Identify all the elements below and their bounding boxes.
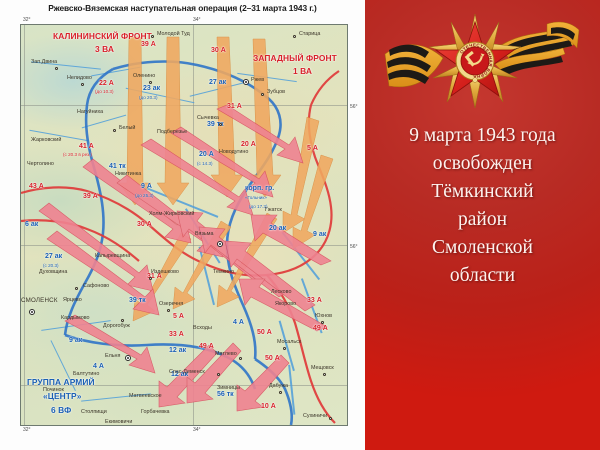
order-of-patriotic-war-emblem: ОТЕЧЕСТВЕННАЯ ВОЙНА (379, 4, 584, 116)
city-marker (279, 391, 282, 394)
city-label: Дорогобуж (103, 323, 130, 329)
unit-33a-east: 33 А (307, 297, 322, 304)
city-marker (321, 321, 324, 324)
city-label: Столпищи (81, 409, 107, 415)
unit-9ak-east: 9 ак (313, 231, 326, 238)
city-label: Дабужа (269, 383, 288, 389)
unit-50a: 50 А (257, 329, 272, 336)
unit-41a: 41 А (79, 143, 94, 150)
front-label-western: ЗАПАДНЫЙ ФРОНТ (253, 53, 337, 63)
unit-27ak-south: 27 ак (45, 253, 62, 260)
city-label: Издешково (151, 269, 179, 275)
city-label: Сычевка (197, 115, 219, 121)
city-marker (55, 67, 58, 70)
unit-9ak-smolensk: 9 ак (69, 337, 82, 344)
slide-root: Ржевско-Вяземская наступательная операци… (0, 0, 600, 450)
unit-5a: 5 А (173, 313, 184, 320)
front-air-fleet-6vf: 6 ВФ (51, 405, 71, 415)
unit-56tk: 56 тк (217, 391, 234, 398)
unit-9a-note: (до 25.3) (135, 193, 154, 198)
city-label: Оленино (133, 73, 155, 79)
city-label: Темкино (213, 269, 234, 275)
city-label: Духовщина (39, 269, 67, 275)
city-marker-smolensk (29, 309, 35, 315)
map-image: КАЛИНИНСКИЙ ФРОНТ 3 ВА ЗАПАДНЫЙ ФРОНТ 1 … (20, 24, 348, 426)
unit-20ak: 20 ак (269, 225, 286, 232)
unit-41tk: 41 тк (109, 163, 126, 170)
unit-22a-note: (до 10.3) (95, 89, 114, 94)
unit-39a-center: 39 А (83, 193, 98, 200)
city-label: Мятлево (215, 351, 237, 357)
city-label: Мосальск (277, 339, 301, 345)
unit-30a-center: 30 А (137, 221, 152, 228)
city-marker (293, 35, 296, 38)
unit-23ak: 23 ак (143, 85, 160, 92)
coord-bottom-right: 34° (193, 427, 201, 433)
coord-top-right: 34° (193, 17, 201, 23)
city-marker (149, 81, 152, 84)
city-label: Чертолино (27, 161, 54, 167)
unit-20a: 20 А (241, 141, 256, 148)
map-title: Ржевско-Вяземская наступательная операци… (0, 3, 365, 19)
unit-10a: 10 А (261, 403, 276, 410)
city-label: Нагуйниха (77, 109, 103, 115)
city-label: Балтутино (73, 371, 99, 377)
city-label: Нелидово (67, 75, 92, 81)
city-label: Всходы (193, 325, 212, 331)
banner-line-4: район (371, 206, 594, 234)
graticule-line (347, 25, 348, 425)
unit-4a: 4 А (93, 363, 104, 370)
unit-22a: 22 А (99, 80, 114, 87)
city-label: Спас-Деменск (169, 369, 205, 375)
map-panel: Ржевско-Вяземская наступательная операци… (0, 0, 365, 450)
city-label: Мещовск (311, 365, 334, 371)
city-marker-rzhev (243, 79, 249, 85)
unit-6ak: 6 ак (25, 221, 38, 228)
city-label: Юхнов (315, 313, 332, 319)
unit-9a: 9 А (141, 183, 152, 190)
unit-39tk-south: 39 тк (129, 297, 146, 304)
unit-korpsgruppe-name: «Гольник» (245, 195, 267, 200)
banner-line-1: 9 марта 1943 года (371, 122, 594, 150)
city-marker (329, 417, 332, 420)
unit-5a-east: 5 А (307, 145, 318, 152)
unit-50a-south: 50 А (265, 355, 280, 362)
city-label: Молодой Туд (157, 31, 190, 37)
city-marker (121, 319, 124, 322)
unit-41a-note: (с 20.3 в рез.) (63, 152, 92, 157)
city-marker (81, 83, 84, 86)
city-marker (217, 373, 220, 376)
city-label: Капыревщина (95, 253, 130, 259)
city-label: Подберезье (157, 129, 187, 135)
front-air-army-1va: 1 ВА (293, 66, 312, 76)
city-label: Горбачевка (141, 409, 170, 415)
city-label: Вязьма (195, 231, 213, 237)
banner-text-block: 9 марта 1943 года освобожден Тёмкинский … (371, 122, 594, 290)
city-marker (149, 277, 152, 280)
unit-33a: 33 А (169, 331, 184, 338)
unit-27ak-note: (с 20.3) (43, 263, 59, 268)
city-label: Починок (43, 387, 64, 393)
city-label: Никитинка (115, 171, 141, 177)
front-air-army-3va: 3 ВА (95, 44, 114, 54)
st-george-ribbon-left (385, 45, 443, 87)
banner-panel: ОТЕЧЕСТВЕННАЯ ВОЙНА 9 марта 1943 года ос… (365, 0, 600, 450)
coord-top-left: 32° (23, 17, 31, 23)
city-marker (283, 347, 286, 350)
city-label: Зап.Двина (31, 59, 57, 65)
banner-line-6: области (371, 262, 594, 290)
front-label-army-group-centre: ГРУППА АРМИЙ (27, 377, 95, 387)
city-marker-vyazma (217, 241, 223, 247)
unit-4a-east: 4 А (233, 319, 244, 326)
unit-49a: 49 А (199, 343, 214, 350)
city-label: Новодугино (219, 149, 248, 155)
unit-27ak: 27 ак (209, 79, 226, 86)
soviet-advance-arrows (21, 25, 348, 426)
unit-12ak: 12 ак (169, 347, 186, 354)
city-label: Ржев (251, 77, 264, 83)
city-label: Матвеевское (129, 393, 162, 399)
city-marker (151, 35, 154, 38)
unit-43a: 43 А (29, 183, 44, 190)
city-label: Жарковский (31, 137, 61, 143)
unit-49a-east: 49 А (313, 325, 328, 332)
coord-right-lat-2: 56° (350, 244, 358, 250)
city-marker (219, 123, 222, 126)
city-marker (261, 93, 264, 96)
city-label: Лесково (271, 289, 291, 295)
unit-20a-german: 20 А (199, 151, 214, 158)
city-label: Холм-Жирковский (149, 211, 194, 217)
city-label: Екимовичи (105, 419, 132, 425)
unit-20a-german-note: (с 14.3) (197, 161, 213, 166)
city-marker (239, 357, 242, 360)
city-label: Зубцов (267, 89, 285, 95)
banner-line-5: Смоленской (371, 234, 594, 262)
unit-30a: 30 А (211, 47, 226, 54)
city-label: Белый (119, 125, 135, 131)
city-label: СМОЛЕНСК (21, 297, 58, 304)
unit-23ak-note: (до 20.3) (139, 95, 158, 100)
city-label: Сухиничи (303, 413, 327, 419)
city-label: Гжатск (265, 207, 282, 213)
city-marker-elnya (125, 355, 131, 361)
city-marker (113, 129, 116, 132)
unit-31a: 31 А (227, 103, 242, 110)
coord-bottom-left: 32° (23, 427, 31, 433)
city-marker (323, 373, 326, 376)
city-label: Ельня (105, 353, 120, 359)
coord-right-lat: 56° (350, 104, 358, 110)
city-label: Зимницы (217, 385, 240, 391)
front-label-kalinin: КАЛИНИНСКИЙ ФРОНТ (53, 31, 152, 41)
city-marker (167, 309, 170, 312)
banner-line-2: освобожден (371, 150, 594, 178)
banner-line-3: Тёмкинский (371, 178, 594, 206)
city-label: Ярцево (63, 297, 82, 303)
city-label: Озеречня (159, 301, 183, 307)
city-label: Сафоново (83, 283, 109, 289)
city-marker (75, 287, 78, 290)
unit-39a-north: 39 А (141, 41, 156, 48)
city-label: Старица (299, 31, 320, 37)
city-label: Кардымово (61, 315, 90, 321)
city-label: Якорово (275, 301, 296, 307)
unit-korpsgruppe: корп. гр. (245, 185, 274, 192)
